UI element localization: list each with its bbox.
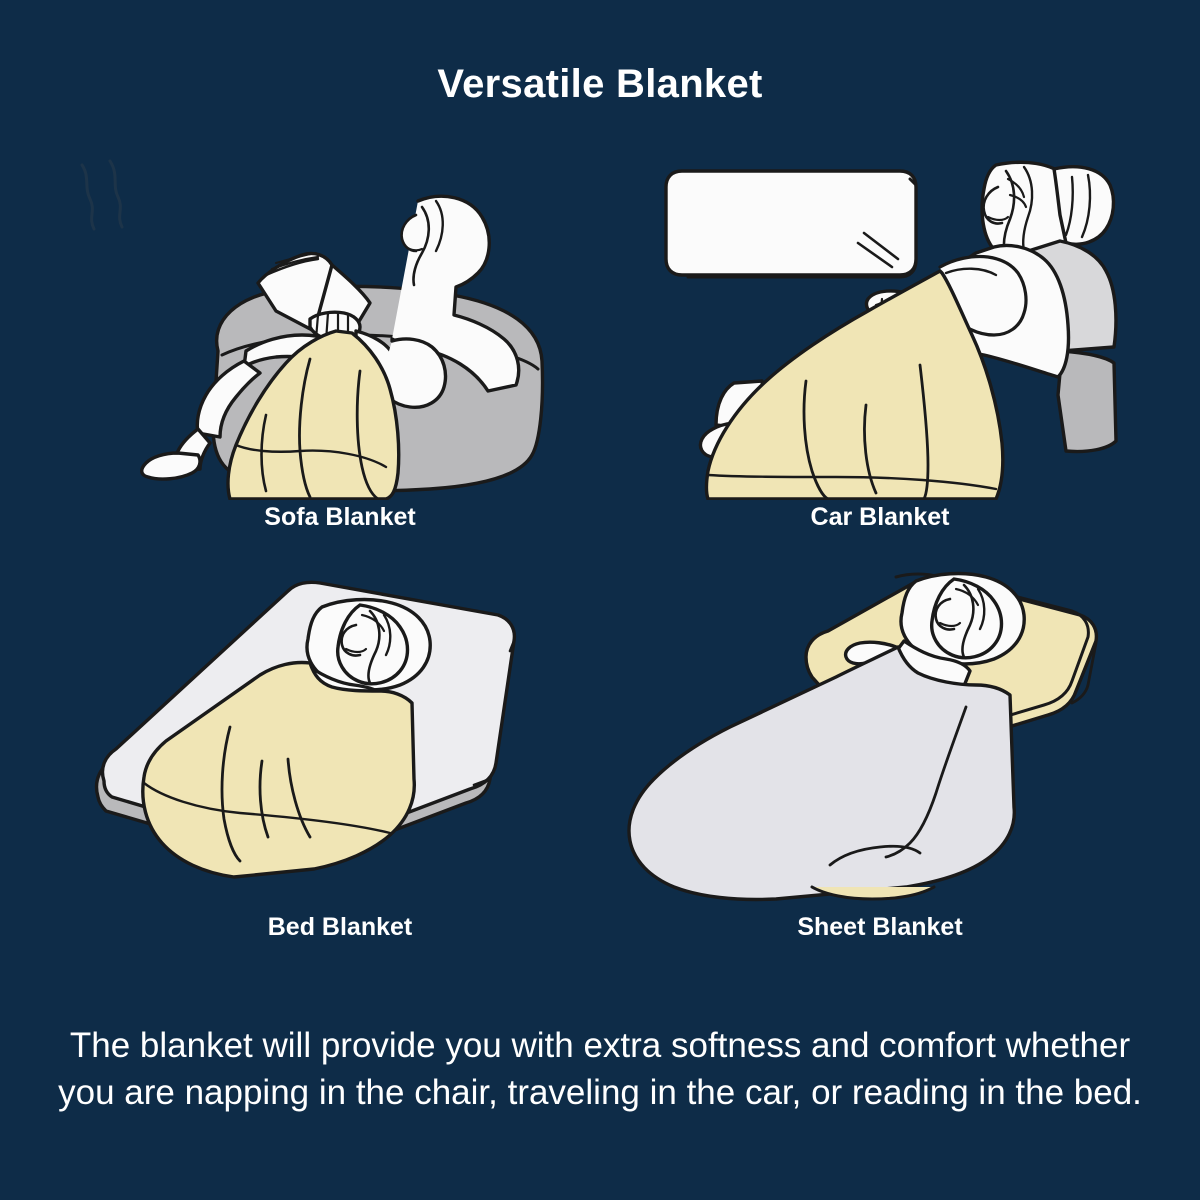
panel-car: Car Blanket (610, 155, 1150, 555)
page-title: Versatile Blanket (0, 62, 1200, 107)
panel-label-car: Car Blanket (610, 503, 1150, 532)
panel-label-sheet: Sheet Blanket (610, 913, 1150, 942)
panel-sofa: Sofa Blanket (70, 155, 610, 555)
infographic-page: Versatile Blanket (0, 0, 1200, 1200)
panel-sheet: Sheet Blanket (610, 565, 1150, 965)
person-reclining-in-car-seat-icon (610, 155, 1150, 500)
caption-line-1: The blanket will provide you with extra … (30, 1022, 1170, 1069)
caption-line-2: you are napping in the chair, traveling … (30, 1069, 1170, 1116)
panel-label-bed: Bed Blanket (70, 913, 610, 942)
panel-label-sofa: Sofa Blanket (70, 503, 610, 532)
blanket-as-bed-sheet-icon (610, 565, 1150, 910)
panel-bed: Bed Blanket (70, 565, 610, 965)
person-reading-on-beanbag-icon (70, 155, 610, 500)
caption: The blanket will provide you with extra … (30, 1022, 1170, 1116)
person-sleeping-in-bed-icon (70, 565, 610, 910)
